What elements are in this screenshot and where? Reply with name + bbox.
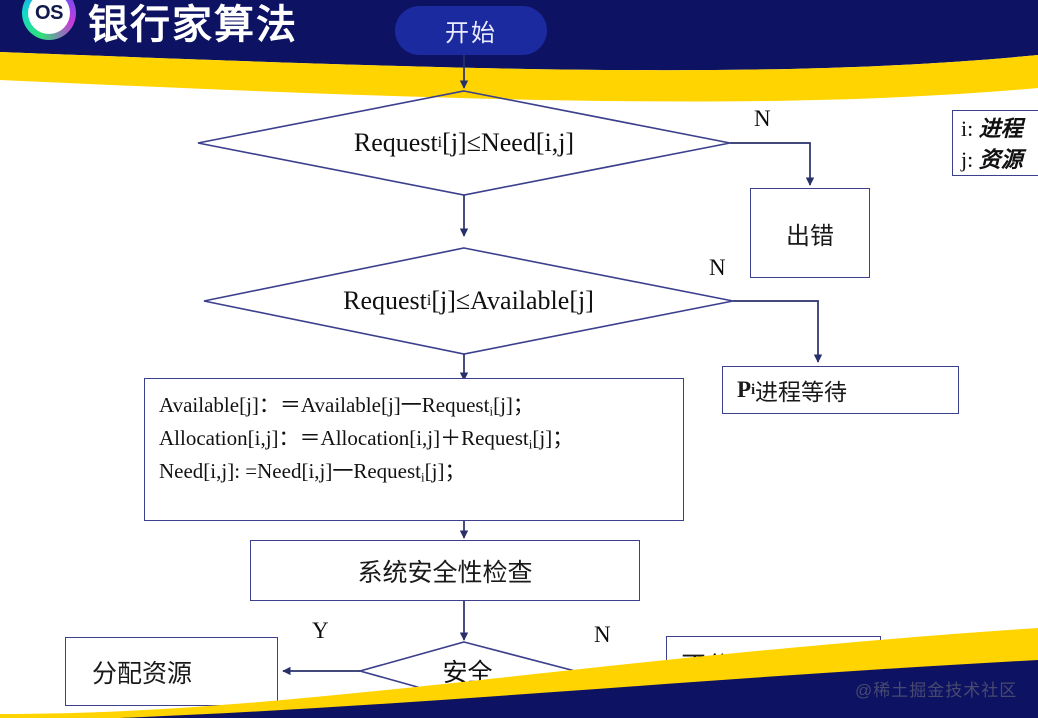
process-line-1: Available[j]：＝Available[j]一Requesti[j]； bbox=[159, 389, 534, 420]
flow-connectors bbox=[0, 0, 1038, 718]
process-box: Available[j]：＝Available[j]一Requesti[j]； … bbox=[144, 378, 684, 521]
branch-label-n1: N bbox=[754, 106, 771, 132]
legend-line-1: i: 进程 bbox=[961, 113, 1038, 144]
wait-box-label-pre: P bbox=[737, 377, 751, 403]
safety-check-label: 系统安全性检查 bbox=[357, 553, 532, 589]
allocate-box: 分配资源 bbox=[65, 637, 278, 706]
branch-label-n2: N bbox=[709, 255, 726, 281]
branch-label-y-bottom: Y bbox=[312, 618, 329, 644]
legend-line-2: j: 资源 bbox=[961, 144, 1038, 175]
error-box-label: 出错 bbox=[786, 216, 834, 251]
wait-box: Pi进程等待 bbox=[722, 366, 959, 414]
no-allocate-box-label: 不分配资源 bbox=[681, 646, 806, 682]
process-line-2: Allocation[i,j]：＝Allocation[i,j]＋Request… bbox=[159, 422, 573, 453]
wait-box-label-post: 进程等待 bbox=[755, 373, 847, 407]
no-allocate-box: 不分配资源 bbox=[666, 636, 881, 692]
safety-check-box: 系统安全性检查 bbox=[250, 540, 640, 601]
legend-box: i: 进程 j: 资源 bbox=[952, 110, 1038, 176]
error-box: 出错 bbox=[750, 188, 870, 278]
process-line-3: Need[i,j]: =Need[i,j]一Requesti[j]； bbox=[159, 455, 465, 486]
branch-label-n-bottom: N bbox=[594, 622, 611, 648]
allocate-box-label: 分配资源 bbox=[92, 654, 192, 690]
slide-canvas: OS 银行家算法 开始 bbox=[0, 0, 1038, 718]
